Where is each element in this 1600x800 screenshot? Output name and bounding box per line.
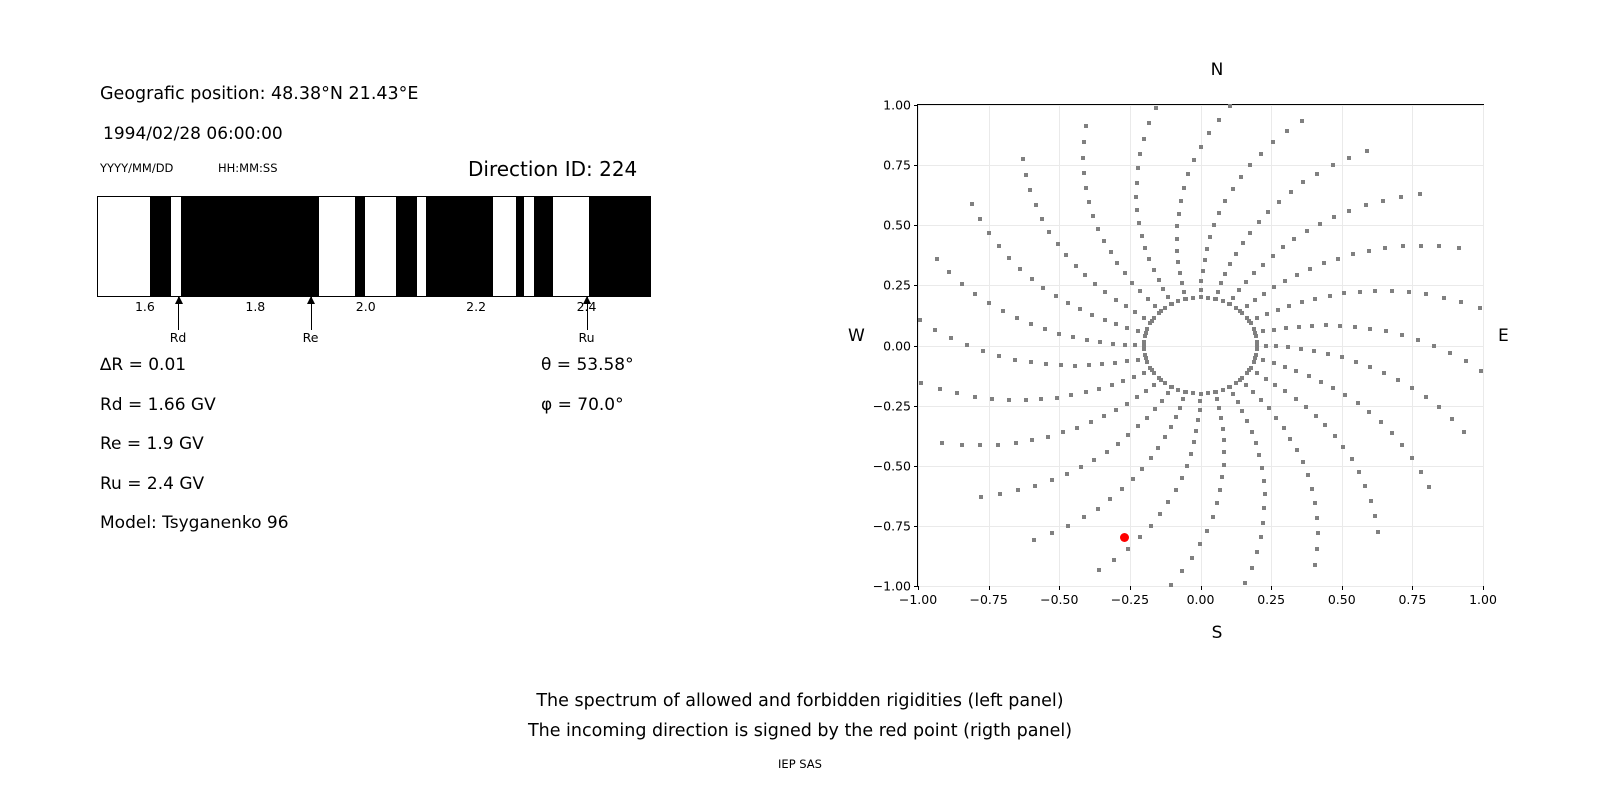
asymptotic-direction-point bbox=[1102, 239, 1106, 243]
x-axis-tick-label: 0.50 bbox=[1328, 592, 1356, 607]
asymptotic-direction-point bbox=[1316, 531, 1320, 535]
rigidity-tick-label: 2.0 bbox=[356, 299, 376, 314]
forbidden-rigidity-band bbox=[534, 197, 554, 296]
asymptotic-direction-point bbox=[1182, 186, 1186, 190]
asymptotic-direction-point bbox=[1134, 195, 1138, 199]
asymptotic-direction-point bbox=[1424, 292, 1428, 296]
asymptotic-direction-point bbox=[1208, 235, 1212, 239]
asymptotic-direction-point bbox=[1090, 313, 1094, 317]
asymptotic-direction-point bbox=[1281, 245, 1285, 249]
grid-line-horizontal bbox=[918, 285, 1483, 286]
asymptotic-direction-point bbox=[973, 395, 977, 399]
asymptotic-direction-point bbox=[1157, 311, 1161, 315]
asymptotic-direction-point bbox=[1192, 158, 1196, 162]
asymptotic-direction-point bbox=[1357, 470, 1361, 474]
asymptotic-direction-point bbox=[1140, 234, 1144, 238]
asymptotic-direction-point bbox=[1424, 395, 1428, 399]
asymptotic-direction-point bbox=[1156, 446, 1160, 450]
forbidden-rigidity-band bbox=[589, 197, 650, 296]
asymptotic-direction-point bbox=[1083, 273, 1087, 277]
asymptotic-direction-point bbox=[1313, 563, 1317, 567]
asymptotic-direction-point bbox=[1136, 166, 1140, 170]
asymptotic-direction-point bbox=[1228, 302, 1232, 306]
asymptotic-direction-point bbox=[1142, 137, 1146, 141]
asymptotic-direction-point bbox=[1174, 415, 1178, 419]
asymptotic-direction-point bbox=[1328, 294, 1332, 298]
compass-north-label: N bbox=[1211, 60, 1224, 80]
asymptotic-direction-point bbox=[1250, 430, 1254, 434]
asymptotic-direction-point bbox=[1255, 316, 1259, 320]
asymptotic-direction-point bbox=[1153, 407, 1157, 411]
asymptotic-direction-point bbox=[1014, 441, 1018, 445]
asymptotic-direction-point bbox=[1459, 300, 1463, 304]
asymptotic-direction-point bbox=[1126, 433, 1130, 437]
asymptotic-direction-point bbox=[1318, 222, 1322, 226]
asymptotic-direction-point bbox=[1130, 281, 1134, 285]
asymptotic-direction-point bbox=[1257, 220, 1261, 224]
asymptotic-direction-point bbox=[1192, 440, 1196, 444]
asymptotic-direction-point bbox=[1115, 261, 1119, 265]
asymptotic-direction-point bbox=[1186, 172, 1190, 176]
asymptotic-direction-point bbox=[1105, 450, 1109, 454]
asymptotic-direction-point bbox=[987, 231, 991, 235]
asymptotic-direction-point bbox=[1180, 281, 1184, 285]
date-format-hint: YYYY/MM/DD bbox=[100, 161, 173, 175]
asymptotic-direction-point bbox=[1284, 326, 1288, 330]
asymptotic-direction-point bbox=[1082, 171, 1086, 175]
asymptotic-direction-point bbox=[1271, 254, 1275, 258]
asymptotic-direction-point bbox=[1400, 333, 1404, 337]
asymptotic-direction-point bbox=[1283, 279, 1287, 283]
asymptotic-direction-point bbox=[1295, 273, 1299, 277]
asymptotic-direction-point bbox=[919, 381, 923, 385]
asymptotic-direction-point bbox=[1148, 321, 1152, 325]
asymptotic-direction-point bbox=[1145, 360, 1149, 364]
asymptotic-direction-point bbox=[1313, 501, 1317, 505]
asymptotic-direction-point bbox=[1123, 271, 1127, 275]
rigidity-marker-arrow-ru bbox=[587, 296, 588, 330]
asymptotic-direction-point bbox=[990, 397, 994, 401]
asymptotic-direction-point bbox=[1314, 414, 1318, 418]
asymptotic-direction-point bbox=[1152, 383, 1156, 387]
parameter-row: Model: Tsyganenko 96 bbox=[100, 513, 660, 553]
asymptotic-direction-point bbox=[1300, 119, 1304, 123]
asymptotic-direction-point bbox=[1410, 386, 1414, 390]
asymptotic-direction-point bbox=[1261, 358, 1265, 362]
asymptotic-direction-point bbox=[1153, 304, 1157, 308]
asymptotic-direction-point bbox=[1215, 501, 1219, 505]
asymptotic-direction-point bbox=[1262, 479, 1266, 483]
asymptotic-direction-point bbox=[1166, 500, 1170, 504]
asymptotic-direction-point bbox=[1040, 217, 1044, 221]
asymptotic-direction-point bbox=[1285, 129, 1289, 133]
asymptotic-direction-point bbox=[935, 257, 939, 261]
asymptotic-direction-point bbox=[1142, 340, 1146, 344]
asymptotic-direction-point bbox=[1132, 375, 1136, 379]
grid-line-horizontal bbox=[918, 466, 1483, 467]
asymptotic-direction-point bbox=[1373, 289, 1377, 293]
asymptotic-direction-point bbox=[1259, 535, 1263, 539]
asymptotic-direction-point bbox=[1180, 476, 1184, 480]
y-axis-tick-mark bbox=[914, 526, 918, 527]
y-axis-tick-mark bbox=[914, 406, 918, 407]
asymptotic-direction-point bbox=[1154, 106, 1158, 110]
asymptotic-direction-point bbox=[996, 443, 1000, 447]
y-axis-tick-mark bbox=[914, 105, 918, 106]
asymptotic-direction-point bbox=[1347, 156, 1351, 160]
asymptotic-direction-point bbox=[1252, 271, 1256, 275]
asymptotic-direction-point bbox=[1300, 300, 1304, 304]
asymptotic-direction-point bbox=[1201, 269, 1205, 273]
asymptotic-direction-point bbox=[1220, 475, 1224, 479]
asymptotic-direction-point bbox=[1211, 515, 1215, 519]
x-axis-tick-label: 0.25 bbox=[1257, 592, 1285, 607]
asymptotic-direction-point bbox=[918, 318, 922, 322]
asymptotic-direction-point bbox=[1464, 359, 1468, 363]
asymptotic-direction-point bbox=[987, 301, 991, 305]
asymptotic-direction-point bbox=[1078, 307, 1082, 311]
asymptotic-direction-point bbox=[1262, 292, 1266, 296]
asymptotic-direction-point bbox=[1191, 391, 1195, 395]
asymptotic-direction-point bbox=[1331, 163, 1335, 167]
asymptotic-direction-point bbox=[1241, 241, 1245, 245]
asymptotic-direction-point bbox=[933, 328, 937, 332]
asymptotic-direction-point bbox=[1272, 285, 1276, 289]
rigidity-marker-label-re: Re bbox=[303, 330, 319, 345]
asymptotic-direction-point bbox=[1176, 388, 1180, 392]
polar-scatter-plot-area: 1.000.750.500.250.00−0.25−0.50−0.75−1.00… bbox=[917, 104, 1484, 587]
asymptotic-direction-point bbox=[1245, 419, 1249, 423]
parameter-left-value: Re = 1.9 GV bbox=[100, 434, 204, 454]
asymptotic-direction-point bbox=[1342, 291, 1346, 295]
asymptotic-direction-point bbox=[1175, 249, 1179, 253]
asymptotic-direction-point bbox=[1116, 442, 1120, 446]
asymptotic-direction-point bbox=[1367, 410, 1371, 414]
asymptotic-direction-point bbox=[1244, 383, 1248, 387]
asymptotic-direction-point bbox=[1092, 458, 1096, 462]
credit-label: IEP SAS bbox=[0, 757, 1600, 771]
asymptotic-direction-point bbox=[1024, 173, 1028, 177]
asymptotic-direction-point bbox=[1221, 427, 1225, 431]
asymptotic-direction-point bbox=[1286, 345, 1290, 349]
grid-line-horizontal bbox=[918, 225, 1483, 226]
x-axis-tick-label: −0.25 bbox=[1111, 592, 1149, 607]
y-axis-tick-label: 0.50 bbox=[883, 218, 911, 233]
asymptotic-direction-point bbox=[1102, 414, 1106, 418]
asymptotic-direction-point bbox=[1240, 409, 1244, 413]
parameter-left-value: Rd = 1.66 GV bbox=[100, 395, 216, 415]
asymptotic-direction-point bbox=[1149, 456, 1153, 460]
asymptotic-direction-point bbox=[1136, 329, 1140, 333]
asymptotic-direction-point bbox=[1176, 260, 1180, 264]
asymptotic-direction-point bbox=[1028, 188, 1032, 192]
direction-id-label: Direction ID: 224 bbox=[468, 157, 637, 181]
asymptotic-direction-point bbox=[1123, 343, 1127, 347]
asymptotic-direction-point bbox=[1175, 237, 1179, 241]
asymptotic-direction-point bbox=[1245, 304, 1249, 308]
asymptotic-direction-point bbox=[965, 343, 969, 347]
asymptotic-direction-point bbox=[1240, 376, 1244, 380]
asymptotic-direction-point bbox=[1149, 524, 1153, 528]
asymptotic-direction-point bbox=[1096, 507, 1100, 511]
asymptotic-direction-point bbox=[1217, 406, 1221, 410]
asymptotic-direction-point bbox=[1243, 581, 1247, 585]
asymptotic-direction-point bbox=[1143, 246, 1147, 250]
asymptotic-direction-point bbox=[1212, 223, 1216, 227]
asymptotic-direction-point bbox=[1021, 157, 1025, 161]
rigidity-tick-label: 1.8 bbox=[245, 299, 265, 314]
asymptotic-direction-point bbox=[1382, 371, 1386, 375]
asymptotic-direction-point bbox=[1143, 334, 1147, 338]
grid-line-horizontal bbox=[918, 406, 1483, 407]
asymptotic-direction-point bbox=[1312, 349, 1316, 353]
asymptotic-direction-point bbox=[1178, 271, 1182, 275]
asymptotic-direction-point bbox=[1479, 369, 1483, 373]
asymptotic-direction-point bbox=[1299, 347, 1303, 351]
asymptotic-direction-point bbox=[1199, 288, 1203, 292]
asymptotic-direction-point bbox=[1259, 398, 1263, 402]
x-axis-tick-mark bbox=[1342, 586, 1343, 590]
asymptotic-direction-point bbox=[1176, 299, 1180, 303]
x-axis-tick-mark bbox=[1201, 586, 1202, 590]
asymptotic-direction-point bbox=[1064, 253, 1068, 257]
asymptotic-direction-point bbox=[1069, 393, 1073, 397]
asymptotic-direction-point bbox=[1341, 445, 1345, 449]
compass-south-label: S bbox=[1212, 623, 1223, 643]
asymptotic-direction-point bbox=[1163, 381, 1167, 385]
asymptotic-direction-point bbox=[1145, 327, 1149, 331]
asymptotic-direction-point bbox=[1136, 424, 1140, 428]
asymptotic-direction-point bbox=[1074, 264, 1078, 268]
asymptotic-direction-point bbox=[1343, 393, 1347, 397]
asymptotic-direction-point bbox=[1065, 472, 1069, 476]
asymptotic-direction-point bbox=[1266, 210, 1270, 214]
parameter-row: Re = 1.9 GV bbox=[100, 434, 660, 474]
asymptotic-direction-point bbox=[1199, 295, 1203, 299]
asymptotic-direction-point bbox=[1248, 163, 1252, 167]
asymptotic-direction-point bbox=[1046, 435, 1050, 439]
asymptotic-direction-point bbox=[1324, 323, 1328, 327]
asymptotic-directions-panel: N S W E 1.000.750.500.250.00−0.25−0.50−0… bbox=[820, 40, 1520, 660]
y-axis-tick-label: −0.50 bbox=[873, 458, 911, 473]
asymptotic-direction-point bbox=[1358, 290, 1362, 294]
parameter-right-value: θ = 53.58° bbox=[541, 355, 634, 375]
asymptotic-direction-point bbox=[1147, 121, 1151, 125]
asymptotic-direction-point bbox=[998, 492, 1002, 496]
asymptotic-direction-point bbox=[1174, 488, 1178, 492]
asymptotic-direction-point bbox=[1190, 556, 1194, 560]
asymptotic-direction-point bbox=[1418, 192, 1422, 196]
asymptotic-direction-point bbox=[1231, 187, 1235, 191]
asymptotic-direction-point bbox=[1075, 426, 1079, 430]
asymptotic-direction-point bbox=[1140, 467, 1144, 471]
incoming-direction-point bbox=[1120, 533, 1129, 542]
asymptotic-direction-point bbox=[1228, 262, 1232, 266]
parameter-row: Ru = 2.4 GV bbox=[100, 474, 660, 514]
asymptotic-direction-point bbox=[1030, 438, 1034, 442]
asymptotic-direction-point bbox=[1228, 104, 1232, 108]
parameter-row: ∆R = 0.01θ = 53.58° bbox=[100, 355, 660, 395]
asymptotic-direction-point bbox=[1133, 343, 1137, 347]
asymptotic-direction-point bbox=[1310, 324, 1314, 328]
asymptotic-direction-point bbox=[1245, 371, 1249, 375]
asymptotic-direction-point bbox=[1066, 301, 1070, 305]
y-axis-tick-label: 0.00 bbox=[883, 338, 911, 353]
asymptotic-direction-point bbox=[1189, 452, 1193, 456]
asymptotic-direction-point bbox=[1135, 395, 1139, 399]
asymptotic-direction-point bbox=[1050, 531, 1054, 535]
forbidden-rigidity-band bbox=[516, 197, 523, 296]
asymptotic-direction-point bbox=[1267, 406, 1271, 410]
asymptotic-direction-point bbox=[1125, 359, 1129, 363]
asymptotic-direction-point bbox=[1163, 306, 1167, 310]
asymptotic-direction-point bbox=[997, 354, 1001, 358]
asymptotic-direction-point bbox=[1007, 256, 1011, 260]
asymptotic-direction-point bbox=[1254, 441, 1258, 445]
asymptotic-direction-point bbox=[1273, 383, 1277, 387]
asymptotic-direction-point bbox=[1034, 203, 1038, 207]
asymptotic-direction-point bbox=[1138, 289, 1142, 293]
asymptotic-direction-point bbox=[1175, 224, 1179, 228]
y-axis-tick-label: 1.00 bbox=[883, 98, 911, 113]
asymptotic-direction-point bbox=[1255, 340, 1259, 344]
asymptotic-direction-point bbox=[1071, 335, 1075, 339]
asymptotic-direction-point bbox=[1332, 215, 1336, 219]
asymptotic-direction-point bbox=[1160, 399, 1164, 403]
asymptotic-direction-point bbox=[1217, 211, 1221, 215]
asymptotic-direction-point bbox=[1024, 398, 1028, 402]
asymptotic-direction-point bbox=[1169, 425, 1173, 429]
asymptotic-direction-point bbox=[1265, 312, 1269, 316]
asymptotic-direction-point bbox=[1400, 443, 1404, 447]
asymptotic-direction-point bbox=[1261, 521, 1265, 525]
asymptotic-direction-point bbox=[1294, 397, 1298, 401]
asymptotic-direction-point bbox=[1163, 435, 1167, 439]
asymptotic-direction-point bbox=[1369, 499, 1373, 503]
asymptotic-direction-point bbox=[1047, 230, 1051, 234]
asymptotic-direction-point bbox=[1166, 295, 1170, 299]
asymptotic-direction-point bbox=[1158, 512, 1162, 516]
rigidity-marker-label-ru: Ru bbox=[578, 330, 594, 345]
asymptotic-direction-point bbox=[1199, 392, 1203, 396]
asymptotic-direction-point bbox=[1013, 358, 1017, 362]
asymptotic-direction-point bbox=[1114, 322, 1118, 326]
asymptotic-direction-point bbox=[1206, 391, 1210, 395]
asymptotic-direction-point bbox=[1142, 371, 1146, 375]
rigidity-spectrum-panel: Geografic position: 48.38°N 21.43°E 1994… bbox=[0, 0, 760, 620]
asymptotic-direction-point bbox=[1350, 457, 1354, 461]
asymptotic-direction-point bbox=[1363, 484, 1367, 488]
asymptotic-direction-point bbox=[1305, 229, 1309, 233]
asymptotic-direction-point bbox=[978, 443, 982, 447]
asymptotic-direction-point bbox=[1367, 249, 1371, 253]
grid-line-vertical bbox=[1483, 105, 1484, 586]
asymptotic-direction-point bbox=[1319, 380, 1323, 384]
asymptotic-direction-point bbox=[1056, 242, 1060, 246]
rigidity-axis: 1.61.82.02.22.4RdReRu bbox=[97, 297, 651, 357]
rigidity-tick-label: 2.2 bbox=[466, 299, 486, 314]
asymptotic-direction-point bbox=[1218, 488, 1222, 492]
asymptotic-direction-point bbox=[1283, 389, 1287, 393]
x-axis-tick-mark bbox=[918, 586, 919, 590]
asymptotic-direction-point bbox=[1315, 547, 1319, 551]
asymptotic-direction-point bbox=[1098, 340, 1102, 344]
asymptotic-direction-point bbox=[1237, 288, 1241, 292]
asymptotic-direction-point bbox=[1198, 408, 1202, 412]
rigidity-marker-arrow-rd bbox=[178, 296, 179, 330]
asymptotic-direction-point bbox=[1315, 516, 1319, 520]
asymptotic-direction-point bbox=[1039, 397, 1043, 401]
asymptotic-direction-point bbox=[1016, 488, 1020, 492]
asymptotic-direction-point bbox=[1144, 389, 1148, 393]
y-axis-tick-mark bbox=[914, 285, 918, 286]
asymptotic-direction-point bbox=[1442, 296, 1446, 300]
grid-line-horizontal bbox=[918, 346, 1483, 347]
x-axis-tick-mark bbox=[1412, 586, 1413, 590]
asymptotic-direction-point bbox=[955, 391, 959, 395]
asymptotic-direction-point bbox=[1304, 405, 1308, 409]
rigidity-tick-label: 1.6 bbox=[135, 299, 155, 314]
asymptotic-direction-point bbox=[981, 349, 985, 353]
asymptotic-direction-point bbox=[1419, 244, 1423, 248]
parameter-row: Rd = 1.66 GVφ = 70.0° bbox=[100, 395, 660, 435]
asymptotic-direction-point bbox=[1018, 267, 1022, 271]
parameter-left-value: Ru = 2.4 GV bbox=[100, 474, 204, 494]
asymptotic-direction-point bbox=[1145, 416, 1149, 420]
asymptotic-direction-point bbox=[938, 387, 942, 391]
asymptotic-direction-point bbox=[1356, 401, 1360, 405]
asymptotic-direction-point bbox=[1259, 152, 1263, 156]
asymptotic-direction-point bbox=[1390, 431, 1394, 435]
asymptotic-direction-point bbox=[1450, 417, 1454, 421]
forbidden-rigidity-band bbox=[426, 197, 493, 296]
asymptotic-direction-point bbox=[1365, 149, 1369, 153]
asymptotic-direction-point bbox=[1307, 374, 1311, 378]
grid-line-horizontal bbox=[918, 526, 1483, 527]
asymptotic-direction-point bbox=[1121, 379, 1125, 383]
asymptotic-direction-point bbox=[1231, 296, 1235, 300]
asymptotic-direction-point bbox=[997, 244, 1001, 248]
asymptotic-direction-point bbox=[1138, 152, 1142, 156]
asymptotic-direction-point bbox=[1143, 353, 1147, 357]
asymptotic-direction-point bbox=[1161, 287, 1165, 291]
asymptotic-direction-point bbox=[1255, 371, 1259, 375]
asymptotic-direction-point bbox=[1401, 244, 1405, 248]
x-axis-tick-label: −0.75 bbox=[969, 592, 1007, 607]
asymptotic-direction-point bbox=[1221, 388, 1225, 392]
asymptotic-direction-point bbox=[1223, 199, 1227, 203]
asymptotic-direction-point bbox=[1205, 529, 1209, 533]
x-axis-tick-mark bbox=[1271, 586, 1272, 590]
x-axis-tick-label: 0.00 bbox=[1187, 592, 1215, 607]
asymptotic-direction-point bbox=[1087, 200, 1091, 204]
grid-line-horizontal bbox=[918, 105, 1483, 106]
asymptotic-direction-point bbox=[1264, 344, 1268, 348]
x-axis-tick-mark bbox=[1130, 586, 1131, 590]
asymptotic-direction-point bbox=[1029, 322, 1033, 326]
asymptotic-direction-point bbox=[1222, 450, 1226, 454]
asymptotic-direction-point bbox=[1033, 484, 1037, 488]
asymptotic-direction-point bbox=[1205, 247, 1209, 251]
parameter-left-value: ∆R = 0.01 bbox=[100, 355, 186, 375]
asymptotic-direction-point bbox=[1457, 246, 1461, 250]
asymptotic-direction-point bbox=[1196, 418, 1200, 422]
asymptotic-direction-point bbox=[1206, 296, 1210, 300]
time-format-hint: HH:MM:SS bbox=[218, 161, 278, 175]
asymptotic-direction-point bbox=[1079, 465, 1083, 469]
asymptotic-direction-point bbox=[1222, 438, 1226, 442]
compass-west-label: W bbox=[848, 326, 865, 346]
